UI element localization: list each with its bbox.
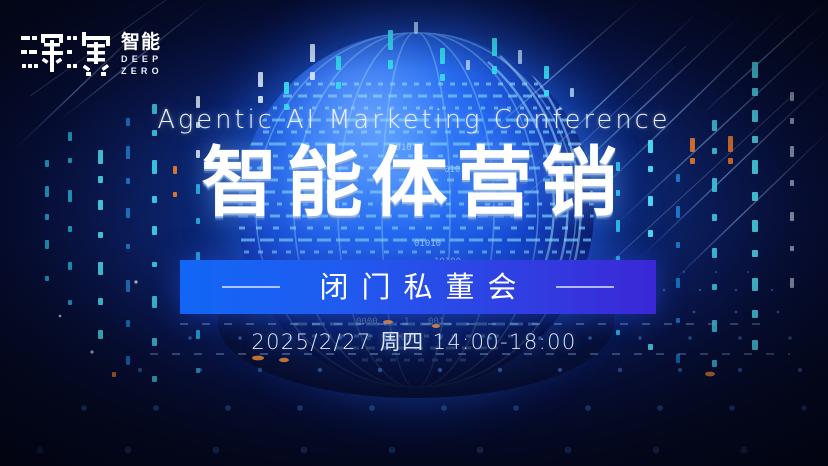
page-title: 智能体营销 <box>0 142 828 224</box>
brand-logo[interactable]: 智能 DEEP ZERO <box>20 28 163 80</box>
subtitle-text: 闭门私董会 <box>306 273 529 302</box>
event-eyebrow-en: Agentic AI Marketing Conference <box>0 108 828 134</box>
subtitle-band: 闭门私董会 <box>180 260 656 314</box>
logo-wordmark: 智能 DEEP ZERO <box>121 32 163 76</box>
band-rule-right <box>556 286 614 288</box>
logo-en-line1: DEEP <box>121 55 163 64</box>
logo-cn-label: 智能 <box>121 33 163 52</box>
logo-en-line2: ZERO <box>121 67 163 76</box>
band-rule-left <box>222 286 280 288</box>
event-datetime: 2025/2/27 周四 14:00-18:00 <box>0 332 828 353</box>
conference-poster: 0000 1 001 0 00100 01.000 01010 10100 10… <box>0 0 828 466</box>
shenyan-logo-mark-icon <box>20 28 112 80</box>
logo-en-label: DEEP ZERO <box>121 55 163 76</box>
